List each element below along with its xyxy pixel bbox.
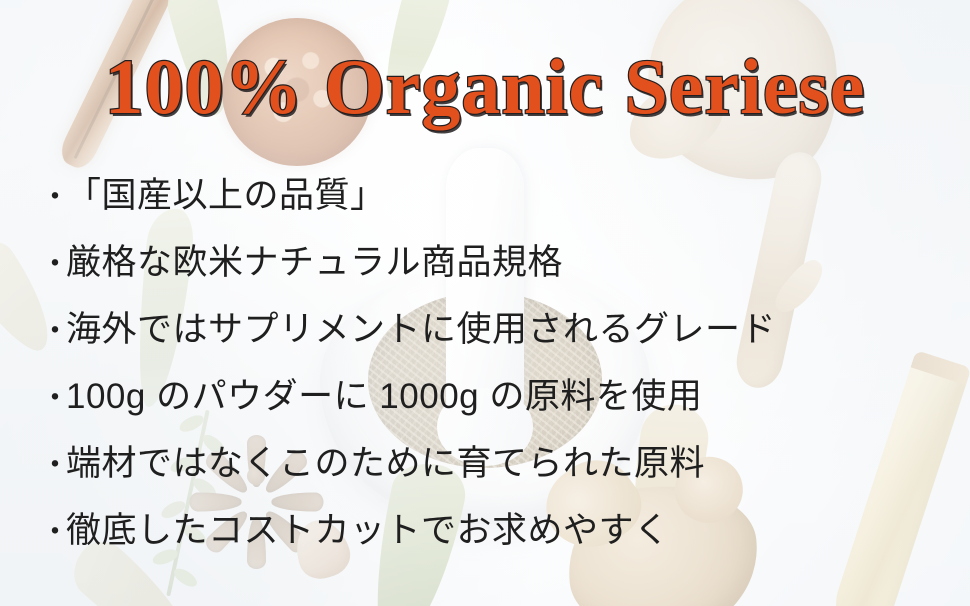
list-item: ・ 海外ではサプリメントに使用されるグレード	[40, 296, 950, 363]
list-item: ・ 徹底したコストカットでお求めやすく	[40, 497, 950, 564]
list-item: ・ 「国産以上の品質」	[40, 162, 950, 229]
list-item-label: 徹底したコストカットでお求めやすく	[66, 497, 670, 564]
list-item-label: 100g のパウダーに 1000g の原料を使用	[66, 363, 702, 430]
banner-content: 100% Organic Seriese ・ 「国産以上の品質」 ・ 厳格な欧米…	[0, 0, 970, 606]
list-item-label: 海外ではサプリメントに使用されるグレード	[66, 296, 776, 363]
list-item-label: 端材ではなくこのために育てられた原料	[66, 430, 705, 497]
list-item-label: 厳格な欧米ナチュラル商品規格	[66, 229, 563, 296]
bullet-marker-icon: ・	[40, 164, 66, 231]
product-banner: 100% Organic Seriese ・ 「国産以上の品質」 ・ 厳格な欧米…	[0, 0, 970, 606]
headline-title: 100% Organic Seriese	[0, 48, 970, 126]
bullet-marker-icon: ・	[40, 298, 66, 365]
list-item: ・ 端材ではなくこのために育てられた原料	[40, 430, 950, 497]
bullet-marker-icon: ・	[40, 432, 66, 499]
bullet-marker-icon: ・	[40, 231, 66, 298]
list-item: ・ 100g のパウダーに 1000g の原料を使用	[40, 363, 950, 430]
bullet-marker-icon: ・	[40, 499, 66, 566]
feature-bullet-list: ・ 「国産以上の品質」 ・ 厳格な欧米ナチュラル商品規格 ・ 海外ではサプリメン…	[40, 162, 950, 564]
bullet-marker-icon: ・	[40, 365, 66, 432]
list-item-label: 「国産以上の品質」	[66, 162, 386, 229]
list-item: ・ 厳格な欧米ナチュラル商品規格	[40, 229, 950, 296]
